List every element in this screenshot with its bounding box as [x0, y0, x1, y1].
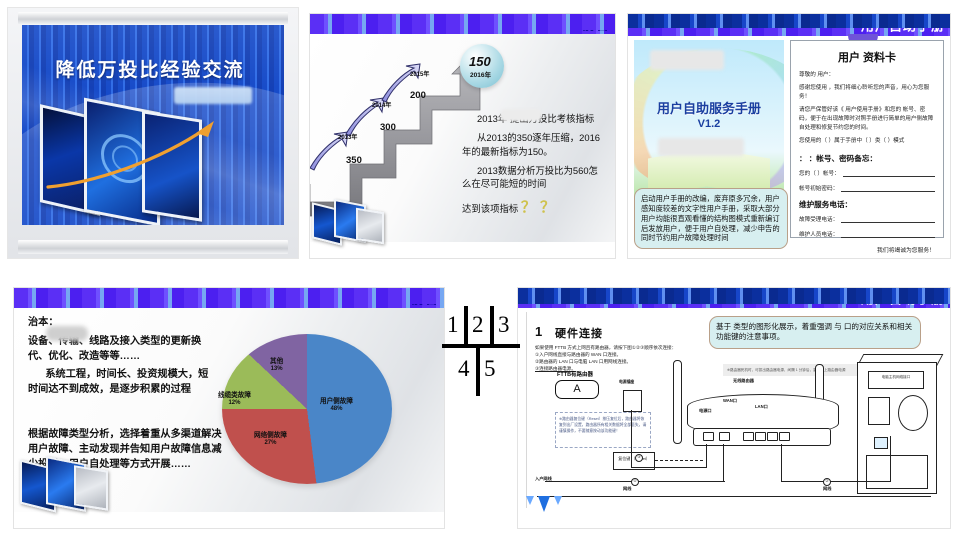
slide2-last-line: 达到该项指标 ？ ？ — [462, 197, 604, 218]
user-info-card: 用户 资料卡 尊敬的 用户： 感谢您使用 ，我们将细心聆听您的声音，用心为您服务… — [790, 40, 944, 238]
pie-slice-name: 网络侧故障 — [254, 432, 287, 440]
page-title: 降低万投比经验交流 — [22, 55, 278, 82]
field-label: 维护人员电话： — [799, 230, 838, 238]
photo-card-right — [74, 465, 108, 510]
orange-arrow-icon — [46, 117, 226, 195]
redacted-text-block — [46, 326, 88, 341]
ball-value: 150 — [469, 54, 491, 69]
slide1-canvas: 降低万投比经验交流 — [22, 25, 284, 225]
pie-disc — [222, 334, 392, 484]
field-label: 故障受理电话： — [799, 215, 838, 223]
lan-cable-to-pc — [890, 436, 891, 482]
slide5-footer-band — [518, 288, 950, 304]
power-port-icon — [703, 432, 714, 441]
diagram-baseline — [537, 496, 931, 497]
lan-port-icon-2 — [755, 432, 766, 441]
field-blank-line[interactable] — [841, 230, 935, 238]
step-value-2014: 300 — [380, 122, 396, 133]
wan-port-icon — [719, 432, 730, 441]
overlay-number-2: 2 — [472, 312, 484, 338]
card-title: 用户 资料卡 — [799, 49, 935, 65]
field-blank-line[interactable] — [841, 184, 935, 192]
pie-slice-value: 48% — [320, 406, 353, 414]
slide-thumbnail-grid: 降低万投比经验交流 前言 — [0, 0, 960, 540]
slide2-footer-band — [310, 14, 615, 30]
card-greeting: 尊敬的 用户： — [799, 71, 935, 80]
step-marker-2: ② — [823, 478, 831, 486]
pie-chart: 用户侧故障 48% 网络侧故障 27% 线缆类故障 12% 其他 13% — [212, 330, 408, 500]
redacted-name-block — [500, 109, 542, 121]
slide4-footer-band — [14, 288, 444, 304]
overlay-number-1: 1 — [447, 312, 459, 338]
section-number: 1 — [535, 324, 542, 339]
wan-cable-vertical — [723, 444, 724, 482]
slide2-body: 350 300 200 2013年 2014年 2015年 150 2016年 … — [310, 34, 615, 242]
pc-lan-port-icon — [874, 437, 888, 449]
slide2-para-2: 从2013的350逐年压缩，2016年的最新指标为150。 — [462, 131, 604, 158]
label-power-socket: 电源插座 — [619, 380, 634, 385]
pie-slice-value: 12% — [218, 400, 251, 408]
card-section-1: ： ：帐号、密码备忘： — [799, 153, 935, 164]
slide3-body: 用户自助服务手册 V1.2 启动用户手册的改编，废弃原多冗余，用户感知度较差的文… — [628, 36, 950, 244]
callout-bubble: 基于 类型的图形化展示，着重强调 与 口的对应关系和相关功能键的注意事项。 — [709, 316, 921, 349]
slide-3-manual-cover[interactable]: 用户自助手册 用户自助服务手册 V1.2 启动用户手册的改编，废弃原多冗余，用户… — [628, 14, 950, 258]
slide2-para-3: 2013数据分析万投比为560怎么在尽可能短的时间 — [462, 164, 604, 191]
overlay-number-5: 5 — [484, 356, 496, 382]
pie-slice-value: 13% — [270, 366, 283, 374]
card-mode-line: 您使用的（ ）属于手册中（ ）类（ ）模式 — [799, 137, 935, 146]
pc-fan-icon — [898, 395, 928, 431]
slide4-photo-collage — [20, 456, 106, 508]
label-wan-port: WAN口 — [723, 398, 737, 404]
slide2-text-block: 2013年 提出万投比考核指标 从2013的350逐年压缩，2016年的最新指标… — [462, 112, 604, 224]
manual-page: 1 硬件连接 如果使用 FTTB 方式上网且有路由器，请按下图①②③顺序依次连接… — [526, 312, 942, 508]
lan-port-icon-3 — [767, 432, 778, 441]
label-lan-port: LAN口 — [755, 404, 768, 410]
card-field-row[interactable]: 维护人员电话： — [799, 230, 935, 238]
slide-4-pie-chart[interactable]: 前言 治本： 设备、传输、线路及接入类型的更新换代、优化、改造等等…… 系统工程… — [14, 288, 444, 528]
card-body-2: 请您严保管好该《 用户使用手册》和您的 帐号、密码，便于在出现故障时对照手册进行… — [799, 106, 935, 133]
field-label: 您的（ ）帐号： — [799, 169, 840, 177]
lan-cable-horizontal — [781, 481, 891, 482]
pc-network-port-label: 电脑主机网络接口 — [868, 371, 924, 389]
label-net-cable-right: 网线 — [823, 486, 831, 492]
slide4-para-2: 系统工程，时间长、投资规模大，短时间达不到成效，是逐步积累的过程 — [28, 368, 218, 398]
step-marker-1: ① — [631, 478, 639, 486]
step-value-2013: 350 — [346, 155, 362, 166]
slide3-footer-band — [628, 14, 950, 28]
step-line-1: ①入户网线直接与路由器的 WAN 口连接。 — [535, 351, 835, 358]
section-heading: 硬件连接 — [555, 325, 603, 341]
callout-bubble: 启动用户手册的改编，废弃原多冗余，用户感知度较差的文字性用户手册，采取大部分用户… — [634, 188, 788, 249]
label-net-cable-left: 网线 — [623, 486, 631, 492]
card-field-row[interactable]: 帐号初始密码： — [799, 184, 935, 192]
slide2-photo-collage — [312, 198, 382, 242]
pie-label-cable: 线缆类故障 12% — [218, 392, 251, 408]
slide1-top-bar — [18, 12, 288, 24]
field-label: 帐号初始密码： — [799, 184, 838, 192]
slide1-bottom-bar — [18, 240, 288, 254]
step-year-2015: 2015年 — [410, 69, 429, 78]
lan-cable-vertical — [781, 444, 782, 482]
redacted-book-block — [658, 138, 744, 156]
cover-title: 用户自助服务手册 — [634, 98, 784, 117]
diagram-letter-box: A — [555, 380, 599, 399]
reset-pointer-dashed — [655, 460, 703, 461]
subsection-label: FTTB有路由器 — [557, 370, 593, 378]
label-power-port: 电源口 — [699, 408, 712, 414]
pc-tower: 电脑主机网络接口 — [857, 362, 937, 494]
step-year-2014: 2014年 — [372, 100, 391, 109]
overlay-number-4: 4 — [458, 356, 470, 382]
step-value-2015: 200 — [410, 90, 426, 101]
power-cable-horizontal — [631, 467, 707, 468]
slide-1-title[interactable]: 降低万投比经验交流 — [8, 8, 298, 258]
pie-label-other: 其他 13% — [270, 358, 283, 374]
card-field-row[interactable]: 故障受理电话： — [799, 215, 935, 223]
pie-label-user-side: 用户侧故障 48% — [320, 398, 353, 414]
label-wireless-router: 无线路由器 — [733, 378, 754, 384]
step-marker-3: ③ — [635, 454, 643, 462]
redacted-logo-block — [650, 50, 724, 70]
slide-5-hardware-connection[interactable]: 用户自助手册 1 硬件连接 如果使用 FTTB 方式上网且有路由器，请按下图①②… — [518, 288, 950, 528]
overlay-divider-3 — [476, 348, 480, 396]
card-field-row[interactable]: 您的（ ）帐号： — [799, 169, 935, 177]
pie-slice-name: 其他 — [270, 358, 283, 366]
overlay-divider-2 — [490, 306, 494, 348]
cover-version: V1.2 — [634, 118, 784, 130]
slide5-body: 1 硬件连接 如果使用 FTTB 方式上网且有路由器，请按下图①②③顺序依次连接… — [518, 308, 950, 512]
overlay-horizontal-rule — [442, 344, 520, 348]
card-footer: 我们将竭诚为您服务！ — [799, 245, 935, 254]
target-ball-2016: 150 2016年 — [460, 44, 504, 88]
slide-2-staircase[interactable]: 前言 — [310, 14, 615, 258]
power-cable-to-port — [706, 444, 707, 468]
slide4-body: 治本： 设备、传输、线路及接入类型的更新换代、优化、改造等等…… 系统工程，时间… — [14, 308, 444, 512]
card-body-1: 感谢您使用 ，我们将细心聆听您的声音，用心为您服务！ — [799, 84, 935, 102]
card-section-2: 维护服务电话： — [799, 199, 935, 210]
ball-year: 2016年 — [470, 69, 491, 79]
overlay-divider-1 — [464, 306, 468, 348]
field-blank-line[interactable] — [841, 215, 935, 223]
pie-slice-name: 线缆类故障 — [218, 392, 251, 400]
slide-number-overlay: 1 2 3 4 5 — [438, 296, 524, 400]
lan-port-icon-1 — [743, 432, 754, 441]
label-home-cable: 入户网线 — [535, 476, 552, 482]
photo-card-right — [356, 208, 384, 244]
antenna-left-icon — [673, 360, 682, 444]
reset-warning-note: ※路由器复位键（Reset）按压复位后，路由器将恢复到出厂设置，路由器所有相关数… — [555, 412, 651, 448]
field-blank-line[interactable] — [843, 169, 935, 177]
overlay-number-3: 3 — [498, 312, 510, 338]
power-socket-icon — [623, 390, 642, 412]
pc-drive-bay — [868, 397, 890, 425]
pc-lower-panel — [866, 455, 928, 489]
pie-label-network-side: 网络侧故障 27% — [254, 432, 287, 448]
step-year-2013: 2013年 — [338, 132, 357, 141]
triangle-decoration — [524, 496, 584, 512]
lan-port-icon-4 — [779, 432, 790, 441]
pie-slice-value: 27% — [254, 440, 287, 448]
question-marks: ？ ？ — [521, 199, 555, 216]
power-cable-vertical — [631, 410, 632, 468]
pie-slice-name: 用户侧故障 — [320, 398, 353, 406]
